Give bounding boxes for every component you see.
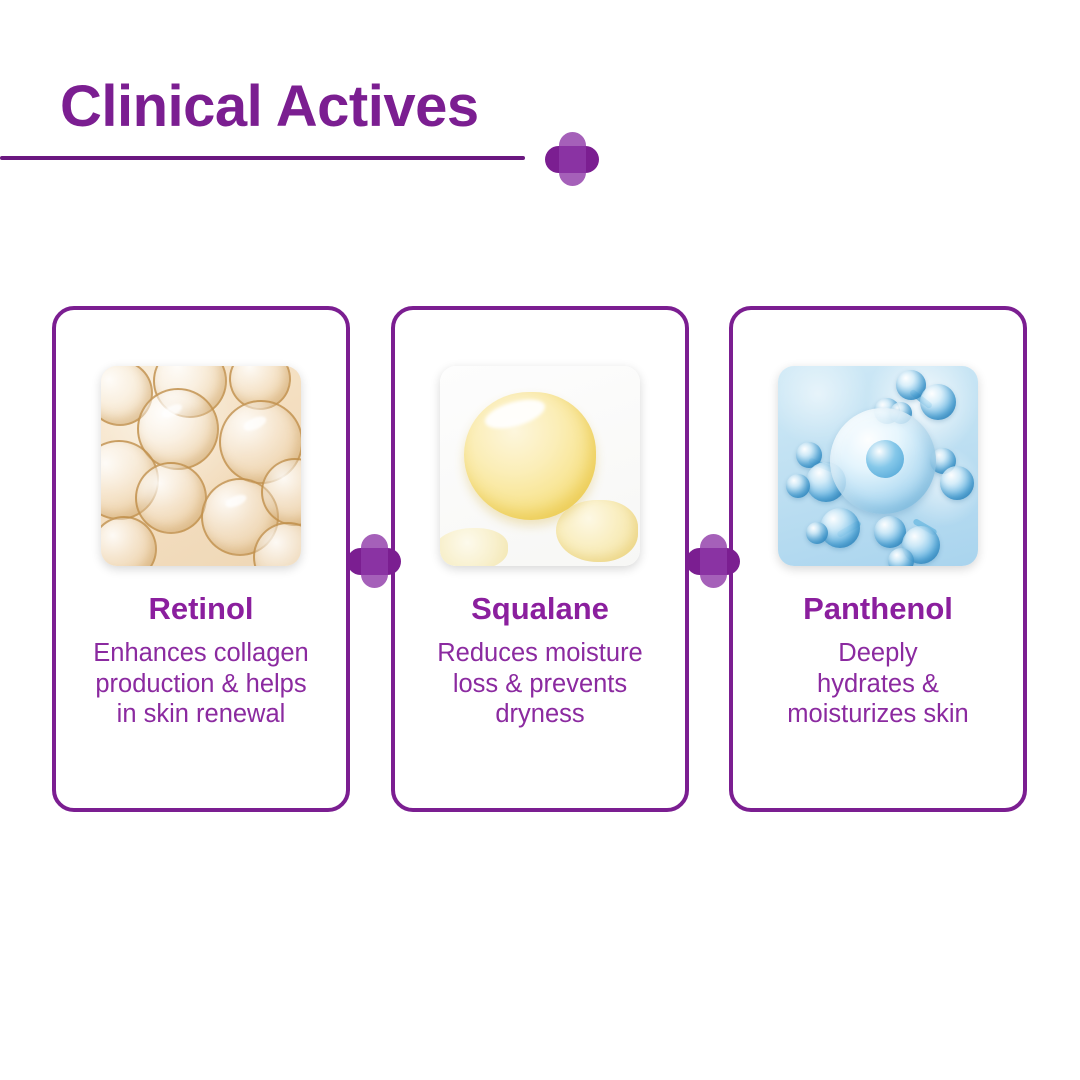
page-title: Clinical Actives	[60, 78, 479, 136]
plus-icon-vertical-bar	[700, 534, 727, 588]
retinol-capsules-image	[101, 366, 301, 566]
ingredient-name: Retinol	[148, 592, 253, 626]
actives-card-row: Retinol Enhances collagen production & h…	[0, 306, 1080, 816]
squalane-oil-droplet-image	[440, 366, 640, 566]
plus-icon-vertical-bar	[559, 132, 586, 186]
ingredient-description: Deeply hydrates & moisturizes skin	[779, 638, 976, 730]
active-card-squalane[interactable]: Squalane Reduces moisture loss & prevent…	[391, 306, 689, 812]
ingredient-description: Enhances collagen production & helps in …	[85, 638, 317, 730]
connector-plus-icon-1	[347, 534, 401, 588]
page-header: Clinical Actives	[0, 0, 1080, 200]
ingredient-description: Reduces moisture loss & prevents dryness	[429, 638, 651, 730]
title-underline-rule	[0, 156, 525, 160]
plus-icon	[545, 132, 599, 186]
plus-icon-vertical-bar	[361, 534, 388, 588]
panthenol-molecule-image	[778, 366, 978, 566]
connector-plus-icon-2	[686, 534, 740, 588]
ingredient-name: Panthenol	[803, 592, 953, 626]
ingredient-name: Squalane	[471, 592, 609, 626]
active-card-retinol[interactable]: Retinol Enhances collagen production & h…	[52, 306, 350, 812]
active-card-panthenol[interactable]: Panthenol Deeply hydrates & moisturizes …	[729, 306, 1027, 812]
